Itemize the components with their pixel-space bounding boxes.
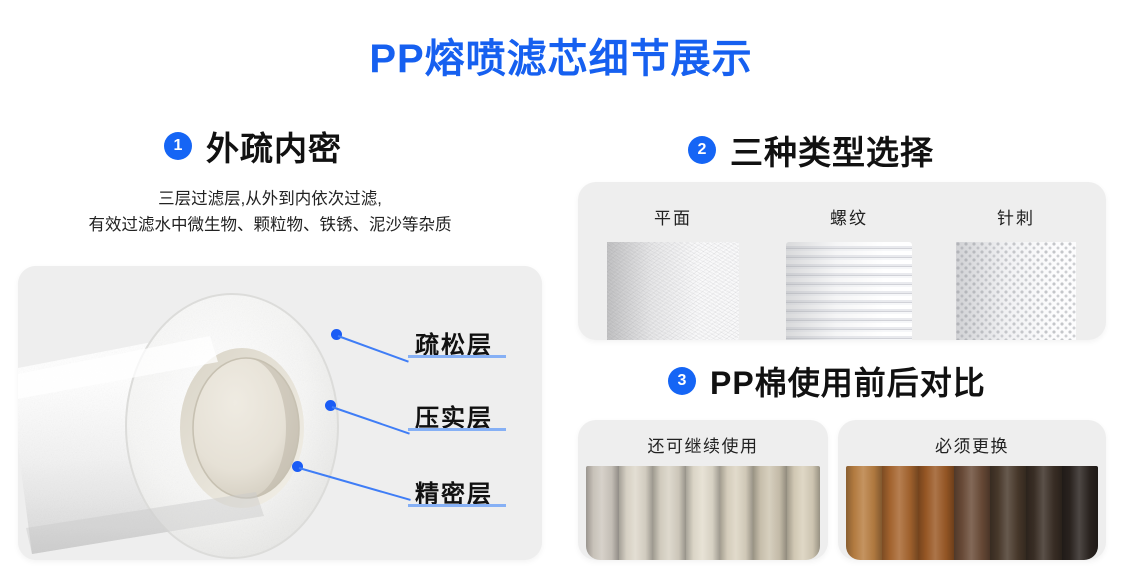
callout-underline-2 [408, 428, 506, 431]
type-label-needle: 针刺 [936, 204, 1096, 229]
section-3-heading: 3 PP棉使用前后对比 [668, 358, 986, 404]
filter-tube [686, 466, 719, 560]
filter-tube [1026, 466, 1062, 560]
section-3-title: PP棉使用前后对比 [710, 358, 986, 404]
comparison-card-usable: 还可继续使用 [578, 420, 828, 560]
type-item-flat[interactable]: 平面 [588, 182, 758, 340]
type-item-needle[interactable]: 针刺 [936, 182, 1096, 340]
description-line-2: 有效过滤水中微生物、颗粒物、铁锈、泥沙等杂质 [0, 212, 540, 238]
replace-filter-strip [846, 466, 1098, 560]
usable-filter-strip [586, 466, 820, 560]
type-label-thread: 螺纹 [764, 204, 934, 229]
callout-dot-1 [331, 329, 342, 340]
callout-dot-2 [325, 400, 336, 411]
type-image-flat [607, 242, 739, 340]
page-title: PP熔喷滤芯细节展示 [0, 26, 1122, 84]
comparison-label-usable: 还可继续使用 [578, 432, 828, 457]
filter-tube [619, 466, 652, 560]
section-1-title: 外疏内密 [206, 122, 342, 170]
comparison-label-replace: 必须更换 [838, 432, 1106, 457]
type-image-thread [786, 242, 912, 340]
comparison-card-replace: 必须更换 [838, 420, 1106, 560]
type-item-thread[interactable]: 螺纹 [764, 182, 934, 340]
section-1-badge: 1 [164, 132, 192, 160]
section-2-badge: 2 [688, 136, 716, 164]
section-1-description: 三层过滤层,从外到内依次过滤, 有效过滤水中微生物、颗粒物、铁锈、泥沙等杂质 [0, 186, 540, 238]
filter-tube [990, 466, 1026, 560]
section-1-heading: 1 外疏内密 [164, 122, 342, 170]
callout-underline-1 [408, 355, 506, 358]
filter-tube [586, 466, 619, 560]
filter-tube [1062, 466, 1098, 560]
section-2-title: 三种类型选择 [730, 126, 934, 174]
filter-tube [720, 466, 753, 560]
section-3-badge: 3 [668, 367, 696, 395]
filter-tube [954, 466, 990, 560]
filter-tube [918, 466, 954, 560]
filter-types-card: 平面 螺纹 针刺 [578, 182, 1106, 340]
callout-underline-3 [408, 504, 506, 507]
section-2-heading: 2 三种类型选择 [688, 126, 934, 174]
type-image-needle [956, 242, 1076, 340]
filter-tube [846, 466, 882, 560]
callout-dot-3 [292, 461, 303, 472]
filter-tube [882, 466, 918, 560]
description-line-1: 三层过滤层,从外到内依次过滤, [0, 186, 540, 212]
type-label-flat: 平面 [588, 204, 758, 229]
filter-tube [653, 466, 686, 560]
filter-tube [787, 466, 820, 560]
filter-tube [753, 466, 786, 560]
product-detail-page: PP熔喷滤芯细节展示 1 外疏内密 三层过滤层,从外到内依次过滤, 有效过滤水中… [0, 0, 1122, 584]
